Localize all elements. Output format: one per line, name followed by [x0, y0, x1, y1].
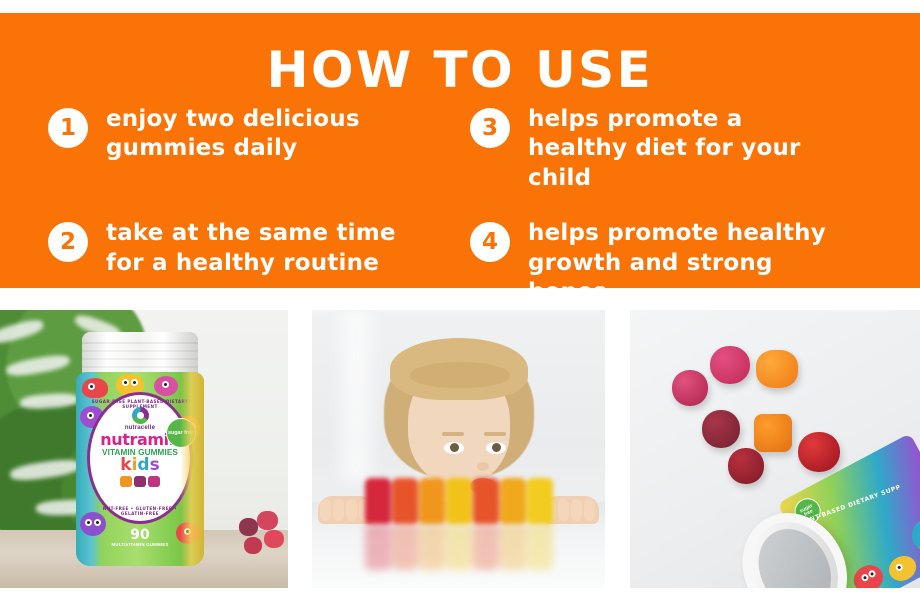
- gummy-icon: [702, 410, 740, 448]
- gummy-row-reflection: [365, 524, 553, 570]
- child-eye: [486, 442, 506, 454]
- label-ring-bottom-text: NUT-FREE • GLUTEN-FREE • GELATIN-FREE: [90, 506, 190, 516]
- step-number-badge-2: 2: [48, 222, 88, 262]
- bottle-lid: [82, 332, 198, 376]
- monster-character-icon: [154, 376, 178, 396]
- child-nose: [477, 462, 489, 471]
- spilled-gummies-photo: sugar free PLANT-BASED DIETARY SUPP cell…: [630, 310, 920, 588]
- child-eyebrow: [484, 432, 506, 436]
- product-bottle-photo: SUGAR-FREE PLANT-BASED DIETARY SUPPLEMEN…: [0, 310, 288, 588]
- page-title: HOW TO USE: [0, 13, 920, 95]
- nutracelle-swirl-logo-icon: [906, 512, 920, 558]
- child-fringe: [390, 338, 528, 400]
- window-light-blur: [330, 310, 382, 482]
- brand-kids-text: kids: [120, 457, 159, 474]
- steps-list: 1 enjoy two delicious gummies daily 3 he…: [0, 105, 920, 334]
- monster-character-icon: [176, 522, 200, 544]
- gummy-bear-row: [365, 478, 553, 524]
- step-text-3: helps promote a healthy diet for your ch…: [528, 105, 848, 193]
- monster-character-icon: [82, 378, 108, 398]
- nutramin-bottle: SUGAR-FREE PLANT-BASED DIETARY SUPPLEMEN…: [76, 332, 204, 566]
- photo-gallery: SUGAR-FREE PLANT-BASED DIETARY SUPPLEMEN…: [0, 310, 920, 588]
- step-number-badge-3: 3: [470, 108, 510, 148]
- step-number-badge-1: 1: [48, 108, 88, 148]
- step-item-1: 1 enjoy two delicious gummies daily: [0, 105, 460, 193]
- gummy-icon: [756, 350, 798, 388]
- step-text-1: enjoy two delicious gummies daily: [106, 105, 426, 164]
- bottle-body: SUGAR-FREE PLANT-BASED DIETARY SUPPLEMEN…: [76, 372, 204, 566]
- gummy-icon: [257, 511, 278, 530]
- label-gummy-illustrations: [120, 476, 160, 487]
- step-text-2: take at the same time for a healthy rout…: [106, 219, 426, 278]
- child-eye: [444, 442, 464, 454]
- bottle-label: SUGAR-FREE PLANT-BASED DIETARY SUPPLEMEN…: [87, 392, 193, 524]
- gummy-icon: [754, 414, 792, 452]
- step-item-3: 3 helps promote a healthy diet for your …: [460, 105, 920, 193]
- gummy-count-label: MULTIVITAMIN GUMMIES: [76, 542, 204, 547]
- gummy-icon: [264, 530, 284, 548]
- gummy-icon: [672, 370, 708, 406]
- bottle-count-area: 90 MULTIVITAMIN GUMMIES: [76, 528, 204, 547]
- gummy-icon: [239, 518, 258, 536]
- step-text-4: helps promote healthy growth and strong …: [528, 219, 848, 307]
- orange-banner: HOW TO USE 1 enjoy two delicious gummies…: [0, 13, 920, 288]
- child-with-gummies-photo: [312, 310, 605, 588]
- monster-character-icon: [176, 416, 200, 440]
- step-item-2: 2 take at the same time for a healthy ro…: [0, 219, 460, 307]
- step-number-badge-4: 4: [470, 222, 510, 262]
- gummy-icon: [244, 537, 262, 554]
- child-eyebrow: [442, 432, 464, 436]
- sugar-free-badge: sugar free: [166, 418, 196, 448]
- gummy-icon: [710, 346, 750, 384]
- how-to-use-infographic: HOW TO USE 1 enjoy two delicious gummies…: [0, 0, 920, 600]
- gummy-count: 90: [76, 528, 204, 542]
- step-item-4: 4 helps promote healthy growth and stron…: [460, 219, 920, 307]
- monster-character-icon: [849, 560, 888, 588]
- gummy-icon: [728, 448, 764, 484]
- nutracelle-swirl-logo-icon: [132, 407, 149, 424]
